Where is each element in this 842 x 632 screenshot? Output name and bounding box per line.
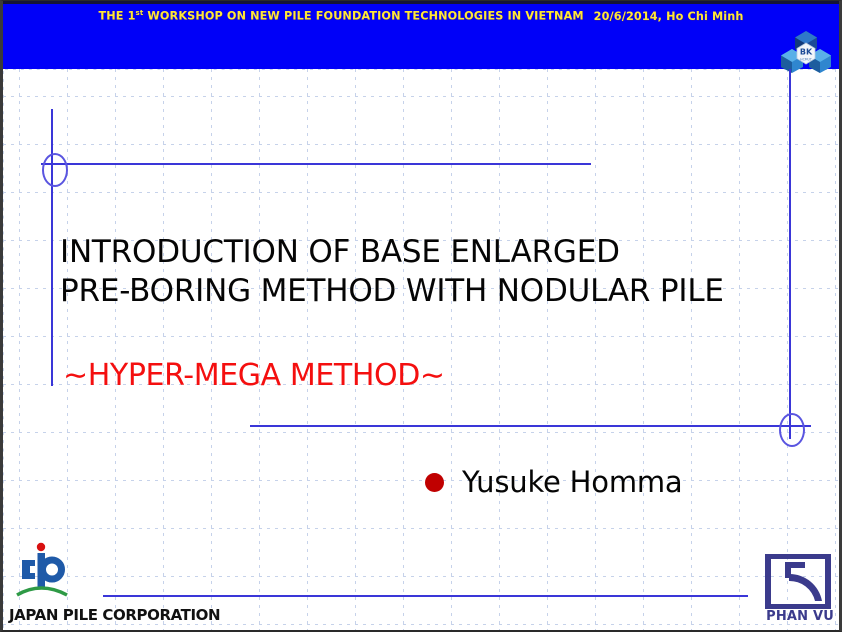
grid-line-v — [307, 69, 308, 630]
presenter-row: Yusuke Homma — [425, 465, 683, 499]
bullet-icon — [425, 473, 444, 492]
crosshair-circle-marker-right — [779, 413, 805, 447]
header-title-rest: WORKSHOP ON NEW PILE FOUNDATION TECHNOLO… — [143, 10, 583, 23]
grid-background — [3, 69, 839, 630]
header-date-location: 20/6/2014, Ho Chi Minh — [594, 10, 744, 23]
slide-subtitle: ∼HYPER-MEGA METHOD∼ — [63, 358, 445, 393]
grid-line-v — [355, 69, 356, 630]
grid-line-h — [3, 480, 839, 481]
grid-line-h — [3, 144, 839, 145]
grid-line-h — [3, 96, 839, 97]
guide-line-horizontal-middle — [250, 425, 811, 427]
slide-title-line-2: PRE-BORING METHOD WITH NODULAR PILE — [60, 272, 780, 311]
grid-line-h — [3, 576, 839, 577]
grid-line-v — [691, 69, 692, 630]
grid-line-h — [3, 336, 839, 337]
grid-line-h — [3, 432, 839, 433]
presentation-slide: THE 1st WORKSHOP ON NEW PILE FOUNDATION … — [0, 0, 842, 632]
workshop-header-title: THE 1st WORKSHOP ON NEW PILE FOUNDATION … — [3, 9, 839, 23]
grid-line-h — [3, 624, 839, 625]
slide-title: INTRODUCTION OF BASE ENLARGED PRE-BORING… — [60, 233, 780, 311]
bk-trefoil-logo: BK HCMUT — [781, 29, 831, 75]
grid-line-h — [3, 192, 839, 193]
grid-line-v — [163, 69, 164, 630]
jp-logo-dot — [37, 543, 45, 551]
grid-line-h — [3, 528, 839, 529]
grid-line-v — [115, 69, 116, 630]
grid-line-v — [643, 69, 644, 630]
phan-vu-caption: PHAN VŨ — [766, 609, 834, 624]
phan-vu-logo — [765, 554, 831, 609]
grid-line-v — [787, 69, 788, 630]
guide-line-horizontal-top — [41, 163, 591, 165]
header-title-main: THE 1 — [98, 10, 135, 23]
grid-line-v — [499, 69, 500, 630]
svg-text:HCMUT: HCMUT — [800, 58, 812, 62]
grid-line-v — [595, 69, 596, 630]
japan-pile-corporation-logo — [11, 541, 103, 603]
presenter-name: Yusuke Homma — [462, 465, 683, 499]
grid-line-v — [739, 69, 740, 630]
grid-line-v — [835, 69, 836, 630]
crosshair-circle-marker-top-left — [42, 153, 68, 187]
grid-line-v — [259, 69, 260, 630]
guide-line-horizontal-bottom — [103, 595, 748, 597]
slide-title-line-1: INTRODUCTION OF BASE ENLARGED — [60, 233, 780, 272]
bk-logo-text: BK — [800, 48, 813, 57]
japan-pile-caption: JAPAN PILE CORPORATION — [9, 606, 220, 624]
grid-line-v — [211, 69, 212, 630]
grid-line-v — [547, 69, 548, 630]
grid-line-v — [403, 69, 404, 630]
grid-line-v — [451, 69, 452, 630]
guide-line-vertical-left — [51, 109, 53, 386]
